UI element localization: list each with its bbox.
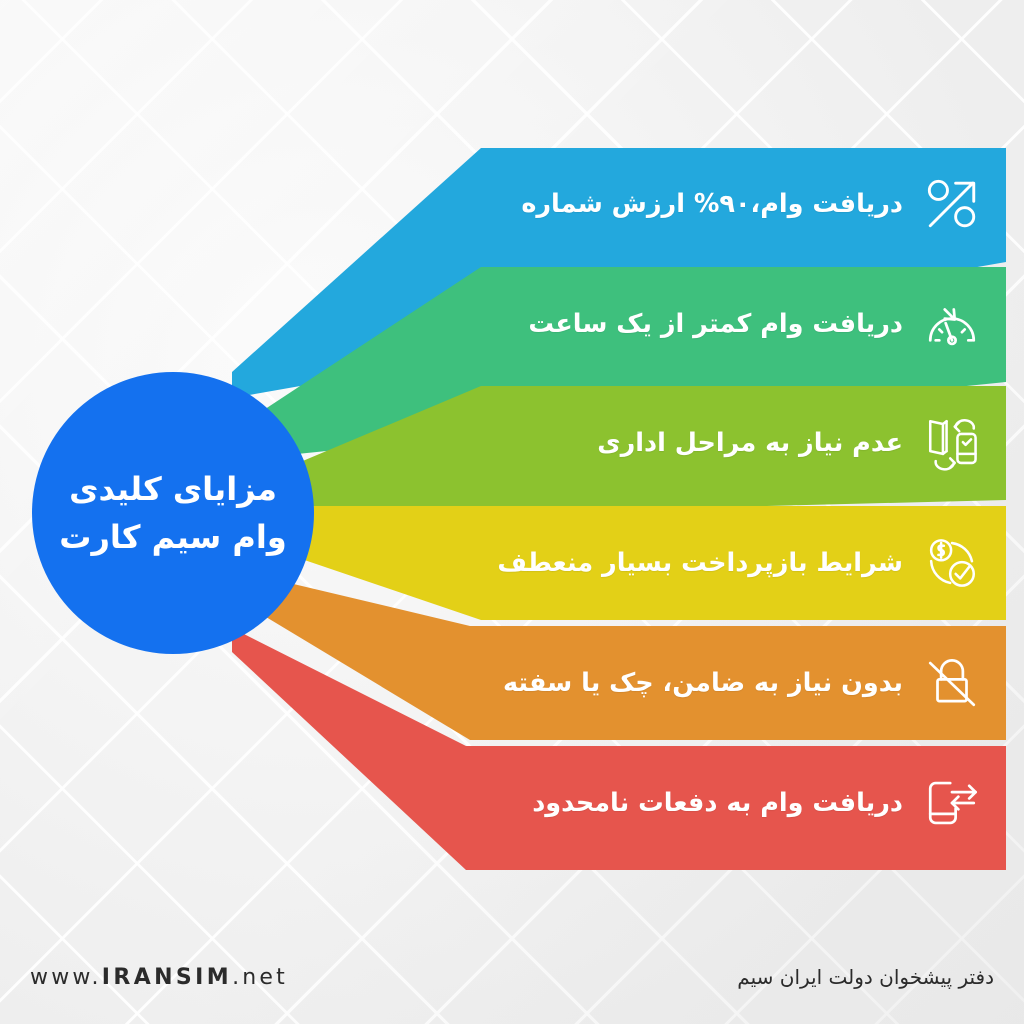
- speedometer-fast-icon: [921, 293, 983, 355]
- footer: www.IRANSIM.net دفتر پیشخوان دولت ایران …: [0, 938, 1024, 1024]
- site-url-prefix: www.: [30, 965, 102, 990]
- office-name: دفتر پیشخوان دولت ایران سیم: [737, 965, 994, 989]
- band-row-4[interactable]: شرایط بازپرداخت بسیار منعطف: [470, 511, 1005, 615]
- band-row-6[interactable]: دریافت وام به دفعات نامحدود: [470, 751, 1005, 855]
- phone-repeat-arrows-icon: [921, 772, 983, 834]
- no-lock-icon: [921, 652, 983, 714]
- dollar-check-circle-icon: [921, 532, 983, 594]
- band-label-6: دریافت وام به دفعات نامحدود: [532, 788, 903, 819]
- document-to-phone-exchange-icon: [921, 412, 983, 474]
- site-url-brand: IRANSIM: [102, 965, 232, 990]
- band-row-2[interactable]: دریافت وام کمتر از یک ساعت: [470, 272, 1005, 376]
- band-label-2: دریافت وام کمتر از یک ساعت: [528, 309, 903, 340]
- band-label-5: بدون نیاز به ضامن، چک یا سفته: [503, 668, 903, 699]
- band-row-3[interactable]: عدم نیاز به مراحل اداری: [470, 391, 1005, 495]
- band-row-1[interactable]: دریافت وام،۹۰% ارزش شماره: [470, 152, 1005, 256]
- band-label-3: عدم نیاز به مراحل اداری: [597, 428, 903, 459]
- site-url-suffix: .net: [232, 965, 288, 990]
- site-url[interactable]: www.IRANSIM.net: [30, 965, 288, 990]
- hub-title-line-2: وام سیم کارت: [59, 517, 286, 557]
- band-row-5[interactable]: بدون نیاز به ضامن، چک یا سفته: [470, 631, 1005, 735]
- band-label-1: دریافت وام،۹۰% ارزش شماره: [521, 189, 903, 220]
- hub-title-line-1: مزایای کلیدی: [69, 469, 277, 509]
- central-hub: مزایای کلیدی وام سیم کارت: [32, 372, 314, 654]
- band-label-4: شرایط بازپرداخت بسیار منعطف: [497, 548, 903, 579]
- percent-growth-arrow-icon: [921, 173, 983, 235]
